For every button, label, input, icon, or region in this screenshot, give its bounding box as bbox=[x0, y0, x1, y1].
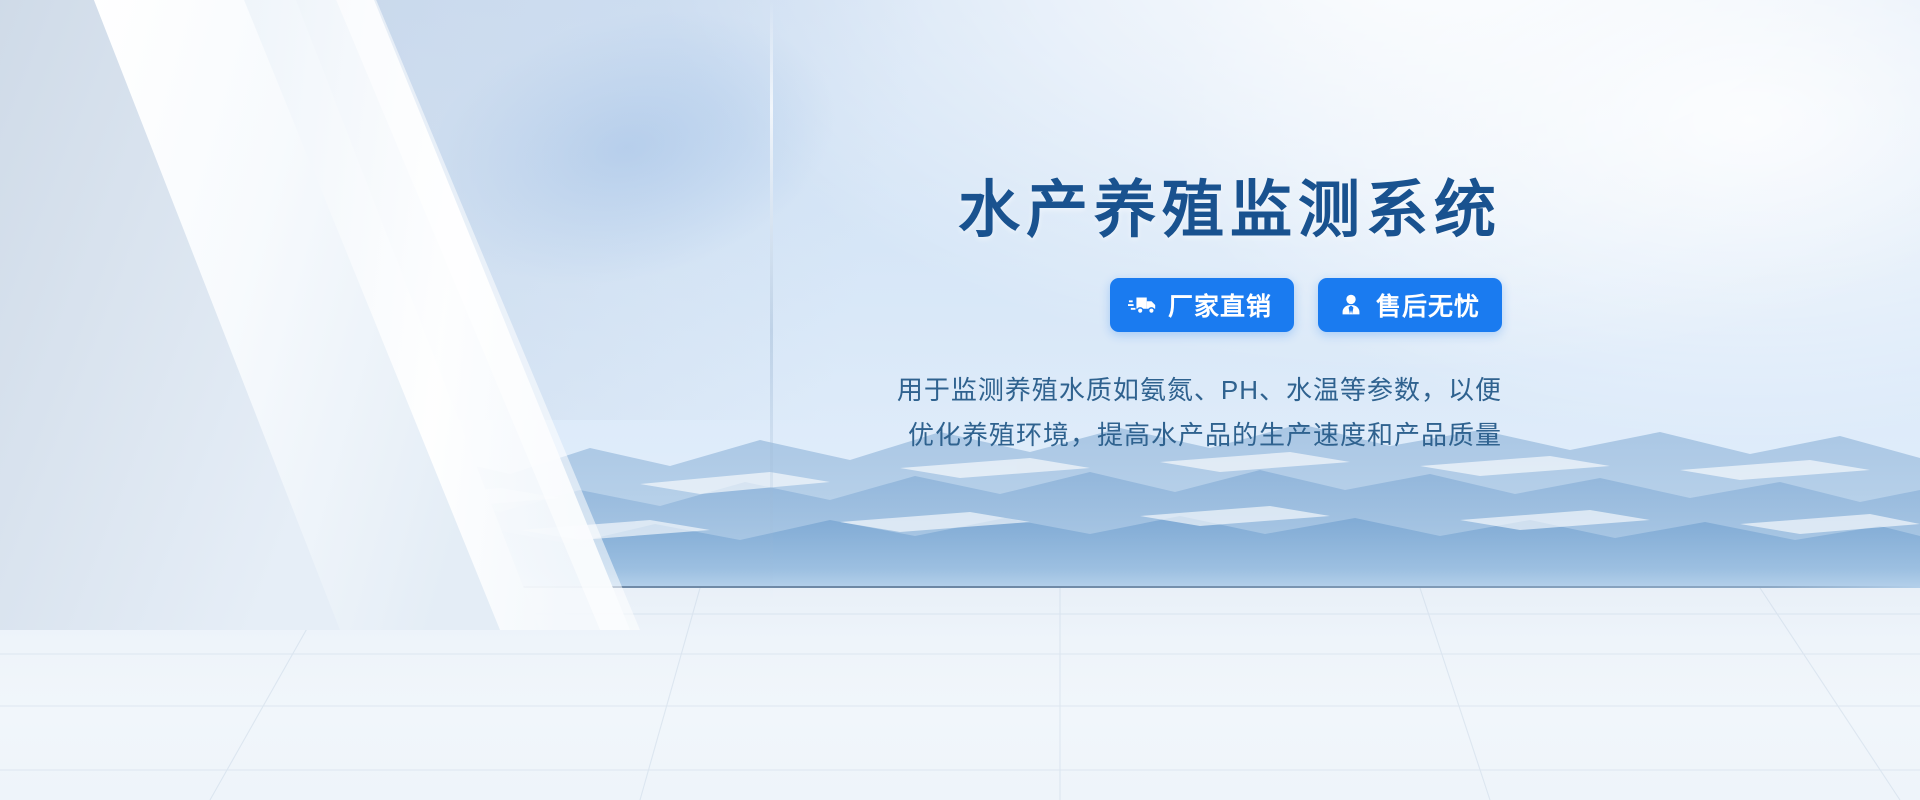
description-line-1: 用于监测养殖水质如氨氮、PH、水温等参数，以便 bbox=[842, 368, 1502, 413]
badge-factory-direct[interactable]: 厂家直销 bbox=[1110, 278, 1294, 332]
page-title: 水产养殖监测系统 bbox=[842, 178, 1502, 244]
hero-banner: 水产养殖监测系统 厂家 bbox=[0, 0, 1920, 800]
architecture-slab bbox=[0, 0, 700, 630]
truck-icon bbox=[1128, 293, 1158, 317]
hero-description: 用于监测养殖水质如氨氮、PH、水温等参数，以便 优化养殖环境，提高水产品的生产速… bbox=[842, 368, 1502, 458]
badge-after-sales[interactable]: 售后无忧 bbox=[1318, 278, 1502, 332]
badge-label: 厂家直销 bbox=[1168, 287, 1272, 323]
description-line-2: 优化养殖环境，提高水产品的生产速度和产品质量 bbox=[842, 413, 1502, 458]
badge-group: 厂家直销 售后无忧 bbox=[842, 278, 1502, 332]
person-support-icon bbox=[1336, 293, 1366, 317]
badge-label: 售后无忧 bbox=[1376, 287, 1480, 323]
glass-seam bbox=[770, 0, 773, 600]
hero-content: 水产养殖监测系统 厂家 bbox=[842, 178, 1502, 458]
